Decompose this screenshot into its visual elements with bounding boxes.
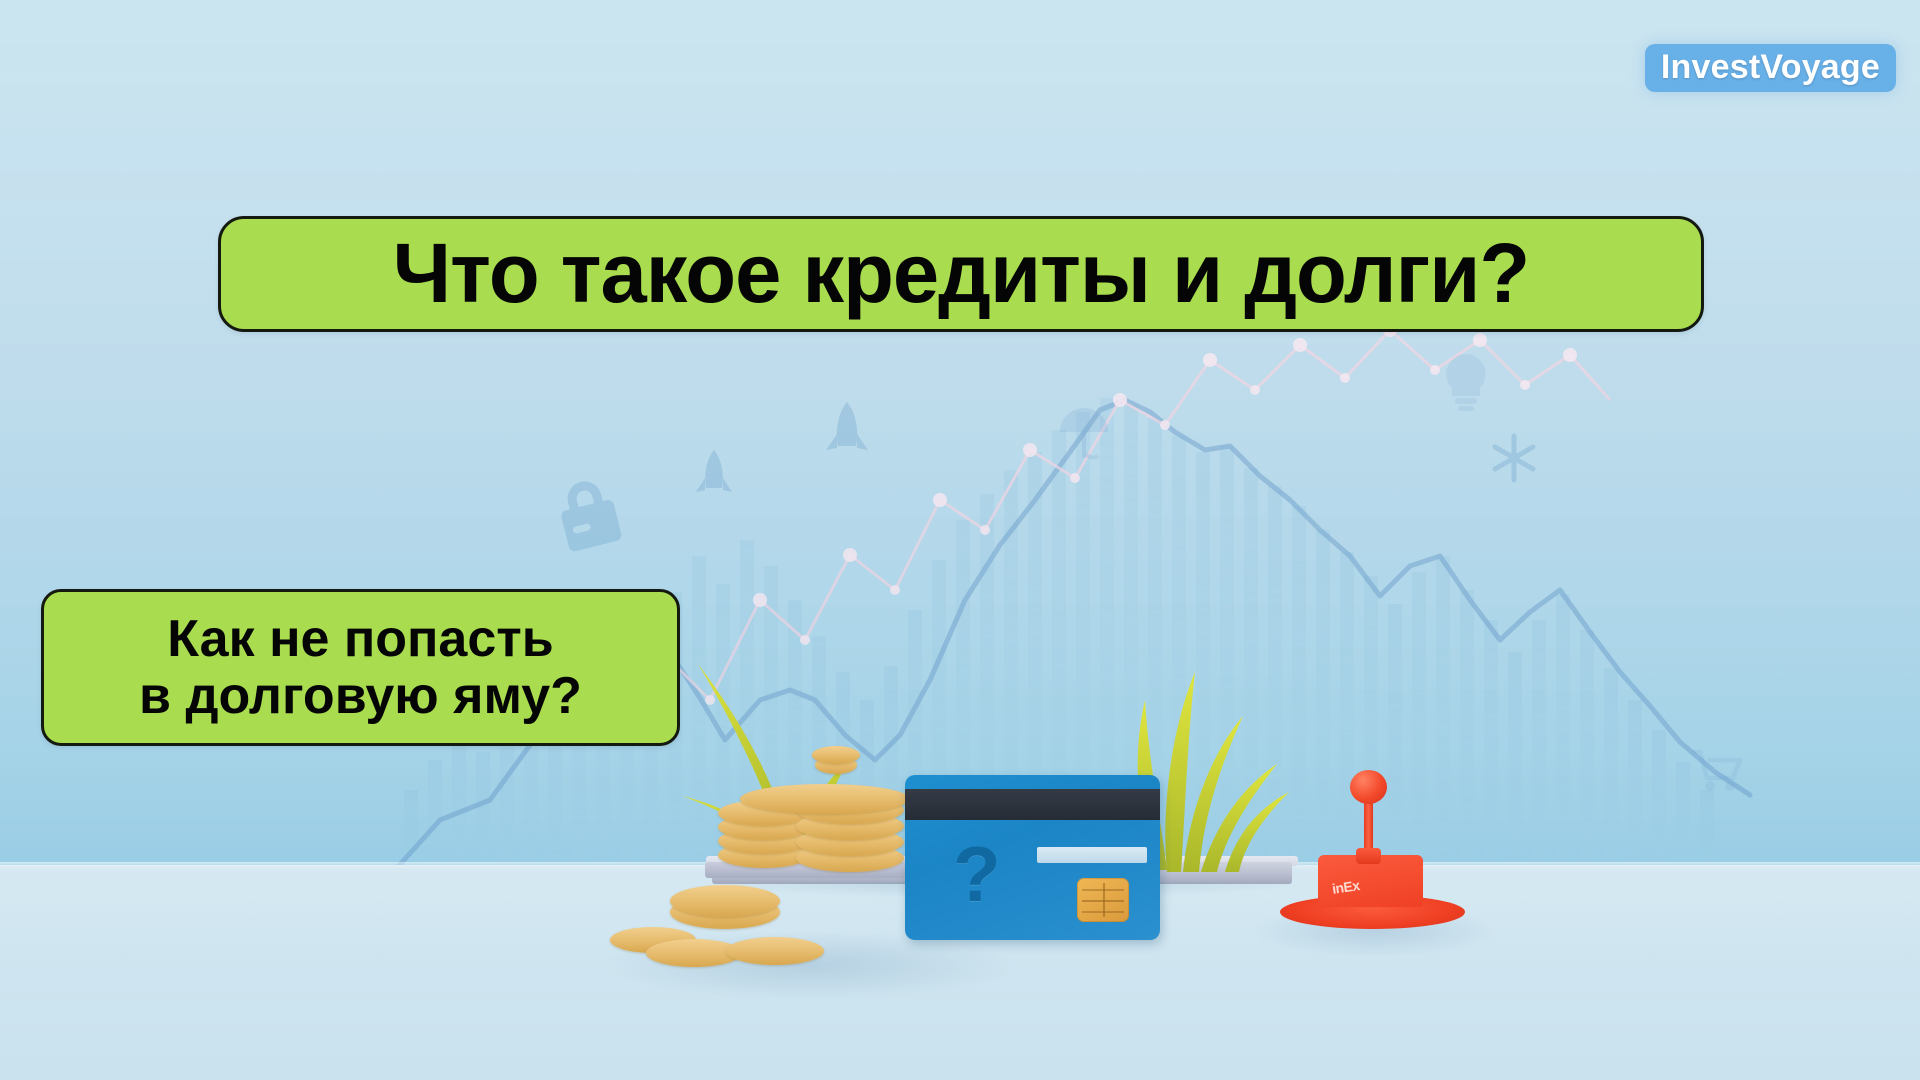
- trap-knob: [1350, 770, 1387, 804]
- page-title: Что такое кредиты и долги?: [393, 234, 1529, 314]
- card-chip-icon: [1077, 878, 1129, 922]
- card-magnetic-stripe: [905, 789, 1160, 820]
- subtitle-line-1: Как не попасть: [167, 611, 553, 667]
- poster-canvas: ? inEx Что такое кредиты и долги? Как не…: [0, 0, 1920, 1080]
- brand-logo[interactable]: InvestVoyage: [1645, 44, 1896, 92]
- card-signature-strip: [1037, 847, 1147, 863]
- card-question-mark: ?: [953, 835, 1001, 913]
- trap-label: inEx: [1331, 877, 1361, 897]
- subtitle-banner: Как не попасть в долговую яму?: [41, 589, 680, 746]
- trap-collar: [1356, 848, 1381, 864]
- coin-pile-floor: [610, 885, 860, 975]
- credit-card[interactable]: ?: [905, 775, 1160, 940]
- title-banner: Что такое кредиты и долги?: [218, 216, 1704, 332]
- subtitle-line-2: в долговую яму?: [139, 668, 582, 724]
